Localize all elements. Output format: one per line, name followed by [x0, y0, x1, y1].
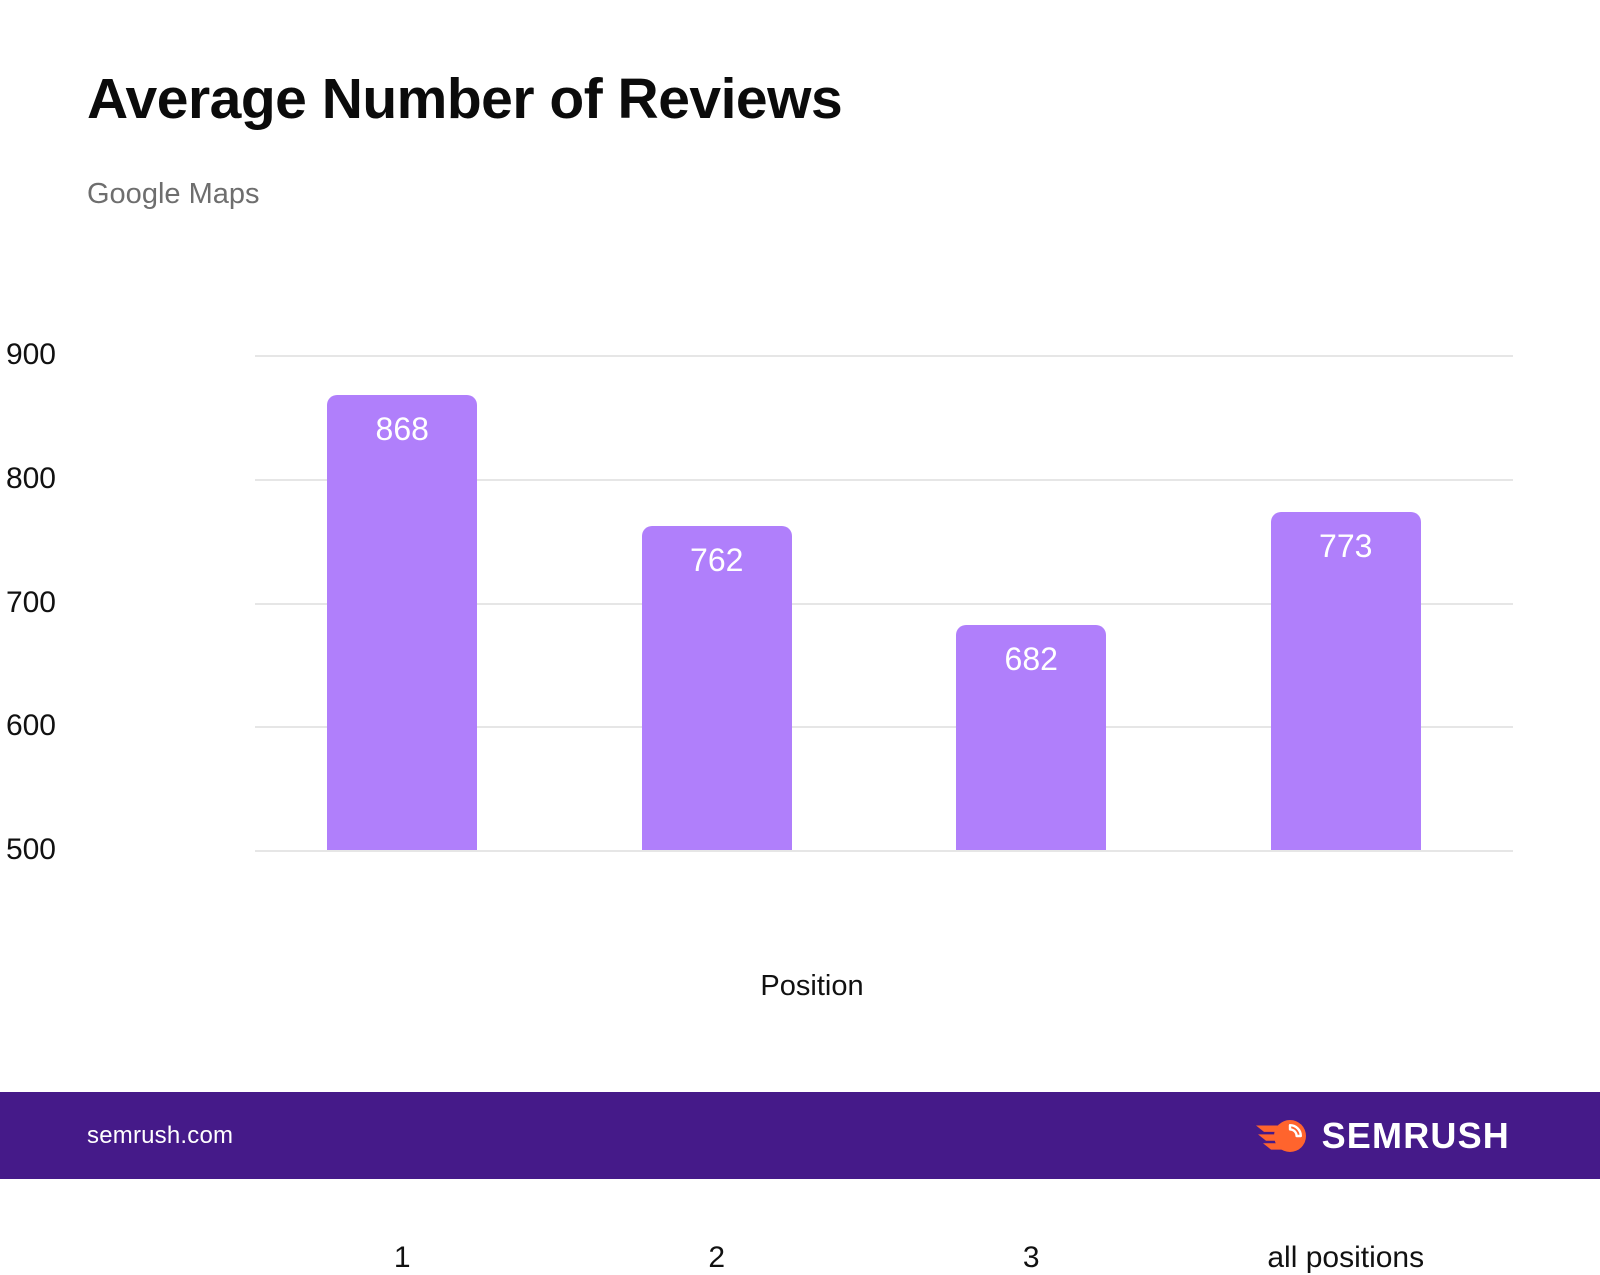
y-axis-tick-label: 800 — [6, 462, 56, 496]
bar[interactable]: 762 — [642, 526, 792, 850]
x-axis-tick-label: all positions — [1267, 1241, 1424, 1275]
semrush-logo-text: SEMRUSH — [1322, 1118, 1510, 1154]
x-axis-tick-label: 2 — [708, 1241, 725, 1275]
gridline — [255, 355, 1513, 357]
semrush-comet-icon — [1256, 1119, 1308, 1153]
bar[interactable]: 773 — [1271, 512, 1421, 850]
semrush-logo[interactable]: SEMRUSH — [1256, 1118, 1510, 1154]
bar-value-label: 868 — [327, 413, 477, 445]
footer-url[interactable]: semrush.com — [87, 1122, 233, 1150]
x-axis-title: Position — [0, 970, 1600, 1003]
y-axis-tick-label: 500 — [6, 833, 56, 867]
y-axis-tick-label: 600 — [6, 709, 56, 743]
bar-chart: 900800700600500868176226823773all positi… — [0, 0, 1600, 1092]
bar[interactable]: 868 — [327, 395, 477, 850]
infographic-canvas: Average Number of Reviews Google Maps 90… — [0, 0, 1600, 1179]
plot-area: 900800700600500868176226823773all positi… — [255, 355, 1513, 850]
footer-bar: semrush.com SEMRUSH — [0, 1092, 1600, 1179]
y-axis-tick-label: 900 — [6, 338, 56, 372]
x-axis-tick-label: 1 — [394, 1241, 411, 1275]
bar-value-label: 773 — [1271, 530, 1421, 562]
x-axis-tick-label: 3 — [1023, 1241, 1040, 1275]
bar-value-label: 682 — [956, 643, 1106, 675]
bar-value-label: 762 — [642, 544, 792, 576]
gridline — [255, 850, 1513, 852]
y-axis-tick-label: 700 — [6, 586, 56, 620]
x-axis-title-label: Position — [736, 970, 863, 1002]
bar[interactable]: 682 — [956, 625, 1106, 850]
